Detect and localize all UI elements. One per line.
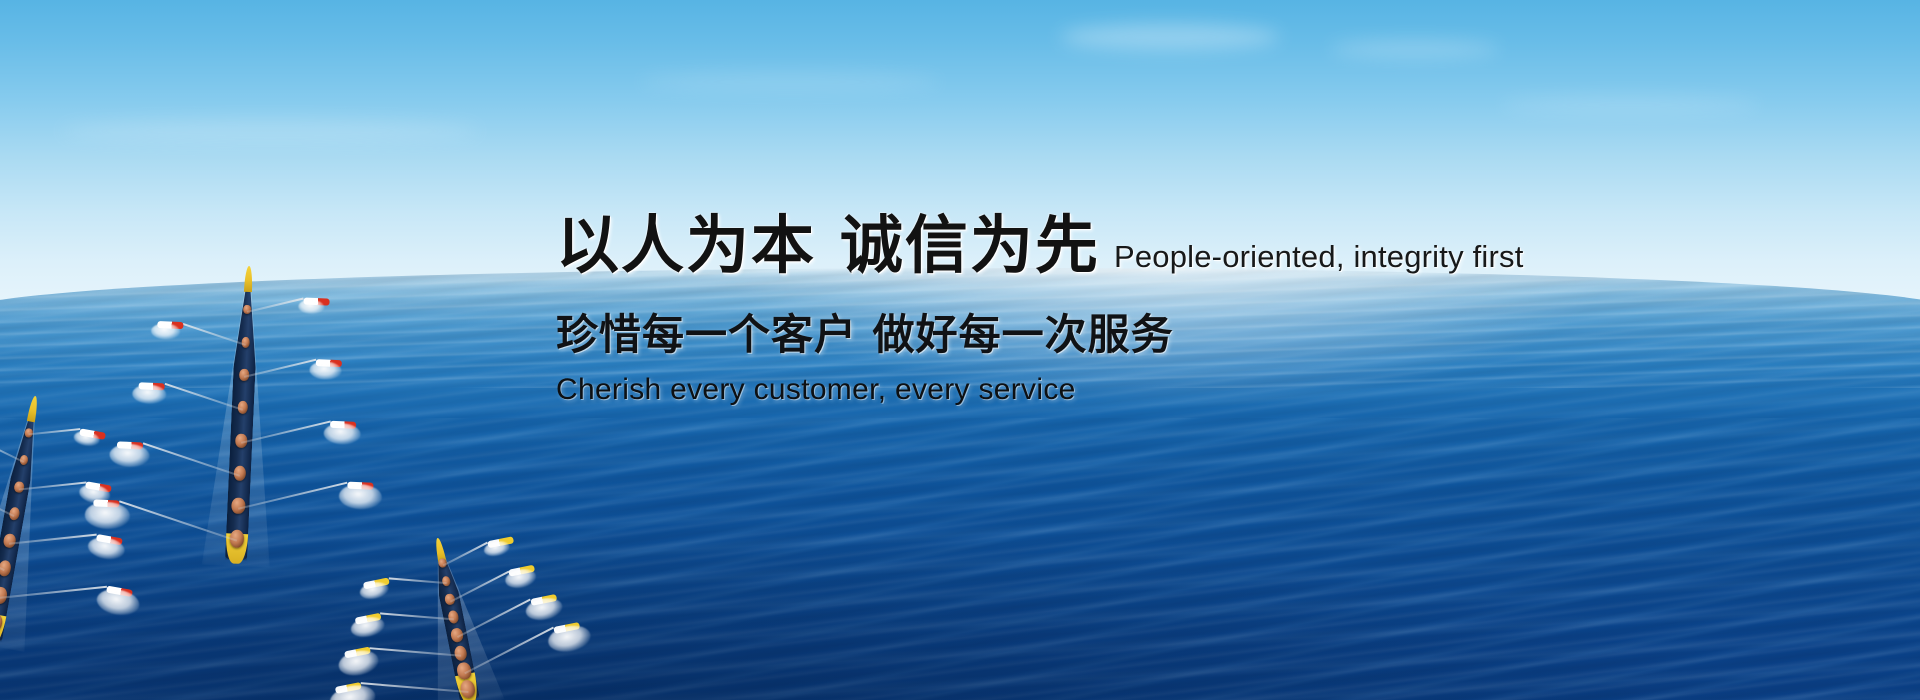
headline-chinese: 以人为本 诚信为先 [556,209,1100,282]
oar [443,541,488,566]
water-splash [151,323,180,340]
subline-english: Cherish every customer, every service [556,373,1876,407]
boat-bow-tip [244,266,253,292]
oar [450,570,510,602]
oar [28,428,80,435]
water-splash [109,443,150,468]
left-rowing-shell [0,396,45,641]
oar [247,297,304,312]
banner-stage: 以人为本 诚信为先People-oriented, integrity firs… [0,0,1920,700]
water-splash [338,483,382,510]
subline-chinese: 珍惜每一个客户 做好每一次服务 [556,301,1876,362]
water-splash [298,299,324,314]
headline-english: People-oriented, integrity first [1114,239,1524,274]
water-splash [84,501,131,530]
water-splash [95,586,142,618]
center-rowing-shell [225,268,260,561]
boat-bow-tip [27,395,39,422]
banner-copy: 以人为本 诚信为先People-oriented, integrity firs… [556,214,1876,407]
right-rowing-shell [428,538,480,700]
headline-row: 以人为本 诚信为先People-oriented, integrity firs… [556,214,1876,277]
water-splash [310,361,342,380]
oar [183,323,246,346]
